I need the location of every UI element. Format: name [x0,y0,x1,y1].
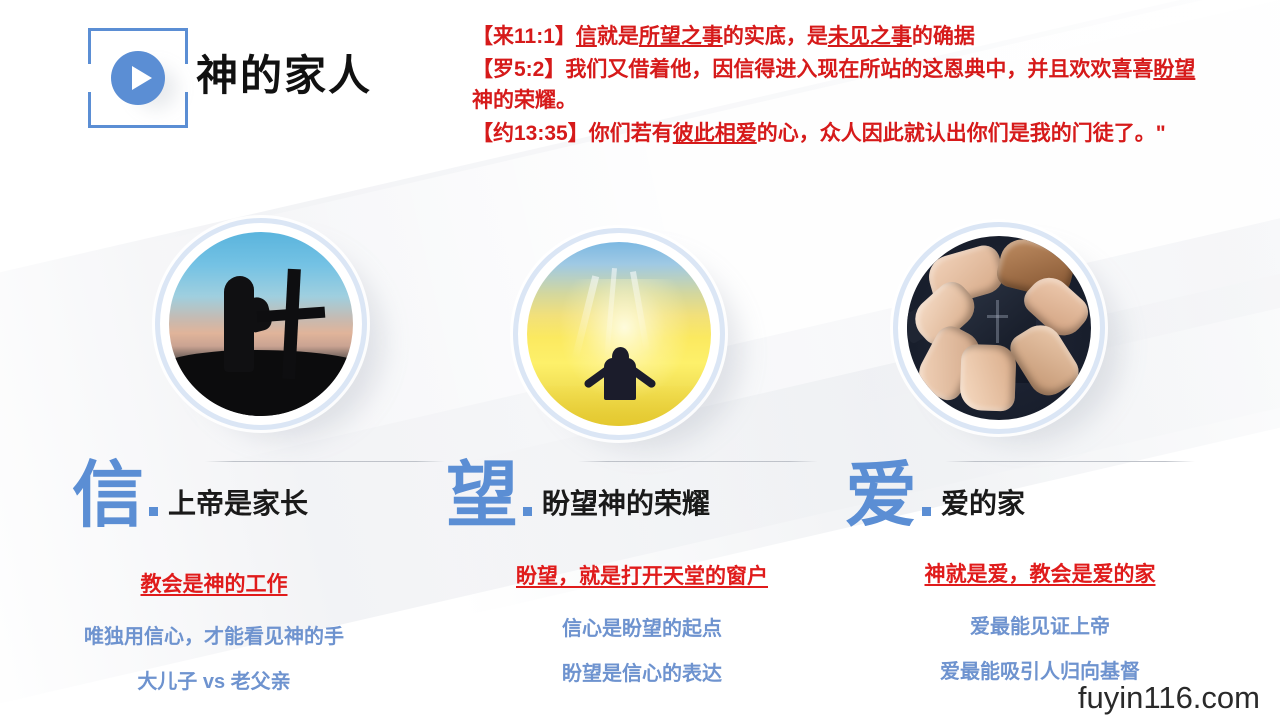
scripture-line-1: 【来11:1】信就是所望之事的实底，是未见之事的确据 [472,22,1212,53]
column-2-subtitle: 盼望神的荣耀 [542,482,710,530]
column-3-subtitle: 爱的家 [941,482,1025,530]
scripture-line-2: 【罗5:2】我们又借着他，因信得进入现在所站的这恩典中，并且欢欢喜喜盼望 神的荣… [472,55,1212,117]
arms-raised-golden-field-photo [513,228,725,440]
clasped-hands-prayer-circle-photo [893,222,1105,434]
scripture-1-text-b: 就是 [597,25,639,48]
column-body-faith: 教会是神的工作 唯独用信心，才能看见神的手 大儿子 vs 老父亲 [14,568,414,710]
column-body-hope: 盼望，就是打开天堂的窗户 信心是盼望的起点 盼望是信心的表达 [442,560,842,702]
square-dot-icon [149,507,158,516]
scripture-line-3: 【约13:35】你们若有彼此相爱的心，众人因此就认出你们是我的门徒了。" [472,119,1212,150]
scripture-2-text-b: 并且欢欢喜喜 [1027,58,1153,81]
scripture-1-underline-c: 所望之事 [639,25,723,48]
scripture-1-underline-a: 信 [576,25,597,48]
scripture-2-reference: 【罗5:2】 [472,58,565,81]
scripture-1-text-f: 的确据 [912,25,975,48]
scripture-1-underline-e: 未见之事 [828,25,912,48]
site-watermark: fuyin116.com [1078,680,1260,716]
column-1-point-2: 大儿子 vs 老父亲 [14,665,414,694]
column-3-big-character: 爱 [845,462,917,530]
column-heading-hope: 望 盼望神的荣耀 [446,462,710,530]
column-2-point-1: 信心是盼望的起点 [442,612,842,641]
scripture-block: 【来11:1】信就是所望之事的实底，是未见之事的确据 【罗5:2】我们又借着他，… [472,22,1212,151]
column-2-point-2: 盼望是信心的表达 [442,657,842,686]
play-button-in-frame-icon [88,28,188,128]
scripture-1-reference: 【来11:1】 [472,25,576,48]
scripture-3-reference: 【约13:35】 [472,122,589,145]
column-2-headline: 盼望，就是打开天堂的窗户 [442,560,842,590]
presentation-slide: 神的家人 【来11:1】信就是所望之事的实底，是未见之事的确据 【罗5:2】我们… [0,0,1280,720]
square-dot-icon [523,507,532,516]
play-circle-icon [111,51,165,105]
scripture-3-text-c: 的心，众人因此就认出你们是 [757,122,1030,145]
scripture-1-text-d: 的实底，是 [723,25,828,48]
scripture-3-underline-b: 彼此相爱 [673,122,757,145]
scripture-3-text-d: 我的门徒了。" [1030,122,1166,145]
play-triangle-icon [132,66,152,90]
scripture-2-underline-c: 盼望 [1153,58,1195,81]
scripture-3-text-a: 你们若有 [589,122,673,145]
slide-header: 神的家人 【来11:1】信就是所望之事的实底，是未见之事的确据 【罗5:2】我们… [0,0,1280,200]
column-2-big-character: 望 [446,462,518,530]
column-1-big-character: 信 [72,462,144,530]
scripture-2-text-a: 我们又借着他，因信得进入现在所站的这恩典中， [565,58,1027,81]
column-3-headline: 神就是爱，教会是爱的家 [840,558,1240,588]
column-heading-faith: 信 上帝是家长 [72,462,308,530]
column-1-headline: 教会是神的工作 [14,568,414,598]
column-body-love: 神就是爱，教会是爱的家 爱最能见证上帝 爱最能吸引人归向基督 [840,558,1240,700]
page-title: 神的家人 [196,42,372,103]
column-heading-love: 爱 爱的家 [845,462,1025,530]
column-1-subtitle: 上帝是家长 [168,482,308,530]
column-1-point-1: 唯独用信心，才能看见神的手 [14,620,414,649]
square-dot-icon [922,507,931,516]
praying-silhouette-cross-photo [155,218,367,430]
column-3-point-1: 爱最能见证上帝 [840,610,1240,639]
scripture-2-text-d: 神的荣耀。 [472,89,577,112]
